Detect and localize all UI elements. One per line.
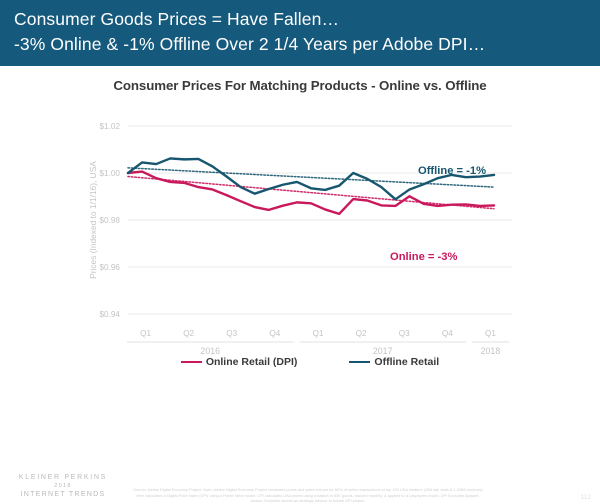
legend-swatch-online [181, 361, 202, 364]
x-axis-quarter-label: Q1 [313, 329, 324, 338]
x-axis-quarter-label: Q1 [140, 329, 151, 338]
source-note: Source: Adobe Digital Economy Project. N… [132, 487, 484, 504]
logo-line-3: INTERNET TRENDS [8, 490, 118, 499]
header-title-line-2: -3% Online & -1% Offline Over 2 1/4 Year… [14, 32, 586, 57]
legend-label-offline: Offline Retail [374, 356, 439, 368]
x-axis-year-label: 2017 [373, 346, 393, 356]
y-axis-tick-label: $1.00 [100, 169, 121, 178]
x-axis-quarter-label: Q2 [356, 329, 367, 338]
slide-body: Consumer Prices For Matching Products - … [0, 66, 600, 450]
x-axis-quarter-label: Q1 [485, 329, 496, 338]
y-axis-tick-label: $0.96 [100, 263, 121, 272]
x-axis-year-label: 2018 [481, 346, 501, 356]
x-axis-quarter-label: Q4 [442, 329, 453, 338]
slide-header-banner: Consumer Goods Prices = Have Fallen… -3%… [0, 0, 600, 66]
annotation-online: Online = -3% [390, 251, 458, 263]
kleiner-perkins-logo: KLEINER PERKINS 2018 INTERNET TRENDS [8, 473, 118, 499]
header-title-line-1: Consumer Goods Prices = Have Fallen… [14, 7, 586, 32]
legend-swatch-offline [349, 361, 370, 364]
y-axis-tick-label: $0.98 [100, 216, 121, 225]
x-axis-quarter-label: Q4 [269, 329, 280, 338]
logo-line-2: 2018 [8, 482, 118, 490]
page-number: 112 [581, 494, 591, 501]
y-axis-tick-label: $0.94 [100, 310, 121, 319]
annotation-offline: Offline = -1% [418, 165, 486, 177]
line-chart: $1.02$1.00$0.98$0.96$0.94Prices (Indexed… [0, 66, 600, 450]
x-axis-quarter-label: Q3 [226, 329, 237, 338]
x-axis-quarter-label: Q2 [183, 329, 194, 338]
chart-legend: Online Retail (DPI) Offline Retail [150, 356, 470, 368]
legend-label-online: Online Retail (DPI) [206, 356, 298, 368]
y-axis-tick-label: $1.02 [100, 122, 121, 131]
x-axis-year-label: 2016 [200, 346, 220, 356]
legend-item-offline: Offline Retail [349, 356, 439, 368]
x-axis-quarter-label: Q3 [399, 329, 410, 338]
y-axis-title: Prices (Indexed to 1/1/16), USA [88, 161, 98, 279]
logo-line-1: KLEINER PERKINS [8, 473, 118, 482]
chart-svg: $1.02$1.00$0.98$0.96$0.94Prices (Indexed… [0, 66, 600, 450]
legend-item-online: Online Retail (DPI) [181, 356, 298, 368]
